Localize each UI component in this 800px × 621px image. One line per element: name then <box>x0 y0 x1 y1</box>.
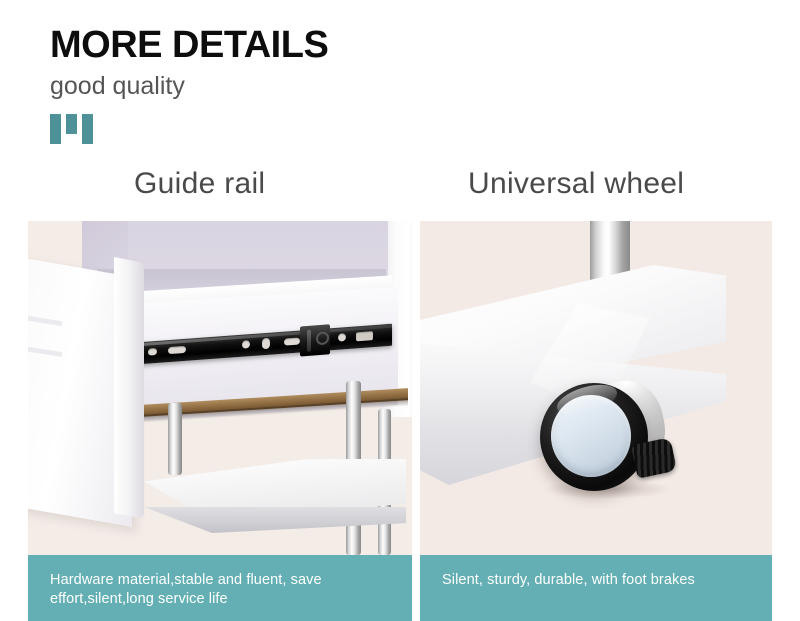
decorative-bar-3 <box>82 114 93 144</box>
rail-slot <box>168 346 186 354</box>
rail-bearing-carriage <box>300 324 330 356</box>
decorative-bars-mark <box>50 114 328 144</box>
rail-slot <box>262 338 270 350</box>
page-title: MORE DETAILS <box>50 26 328 66</box>
rail-slot <box>148 348 157 356</box>
panel-guide-rail: Hardware material,stable and fluent, sav… <box>28 221 412 621</box>
photo-guide-rail <box>28 221 412 555</box>
guide-rail-illustration <box>28 221 412 555</box>
caster-foot-brake-lever <box>631 437 677 479</box>
caster-wheel-assembly <box>538 375 674 505</box>
page-subtitle: good quality <box>50 71 328 101</box>
caption-universal-wheel: Silent, sturdy, durable, with foot brake… <box>420 555 772 621</box>
decorative-bar-2 <box>66 114 77 134</box>
drawer-handle <box>28 313 62 357</box>
photo-universal-wheel <box>420 221 772 555</box>
caster-tire <box>540 383 648 491</box>
rail-slot <box>242 340 250 349</box>
rail-slot <box>338 333 346 342</box>
section-headings: Guide rail Universal wheel <box>28 167 772 213</box>
page-header: MORE DETAILS good quality <box>50 26 328 144</box>
panel-universal-wheel: Silent, sturdy, durable, with foot brake… <box>420 221 772 621</box>
detail-panels: Hardware material,stable and fluent, sav… <box>28 221 772 621</box>
rail-slot <box>284 337 300 345</box>
rail-slot <box>356 331 373 341</box>
section-heading-universal-wheel: Universal wheel <box>468 167 684 201</box>
lower-shelf-edge <box>144 507 406 533</box>
caption-guide-rail: Hardware material,stable and fluent, sav… <box>28 555 412 621</box>
universal-wheel-illustration <box>420 221 772 555</box>
product-detail-page: MORE DETAILS good quality Guide rail Uni… <box>0 0 800 621</box>
decorative-bar-1 <box>50 114 61 144</box>
section-heading-guide-rail: Guide rail <box>134 167 265 201</box>
drawer-front-edge <box>114 257 144 519</box>
chrome-leg <box>168 403 182 475</box>
